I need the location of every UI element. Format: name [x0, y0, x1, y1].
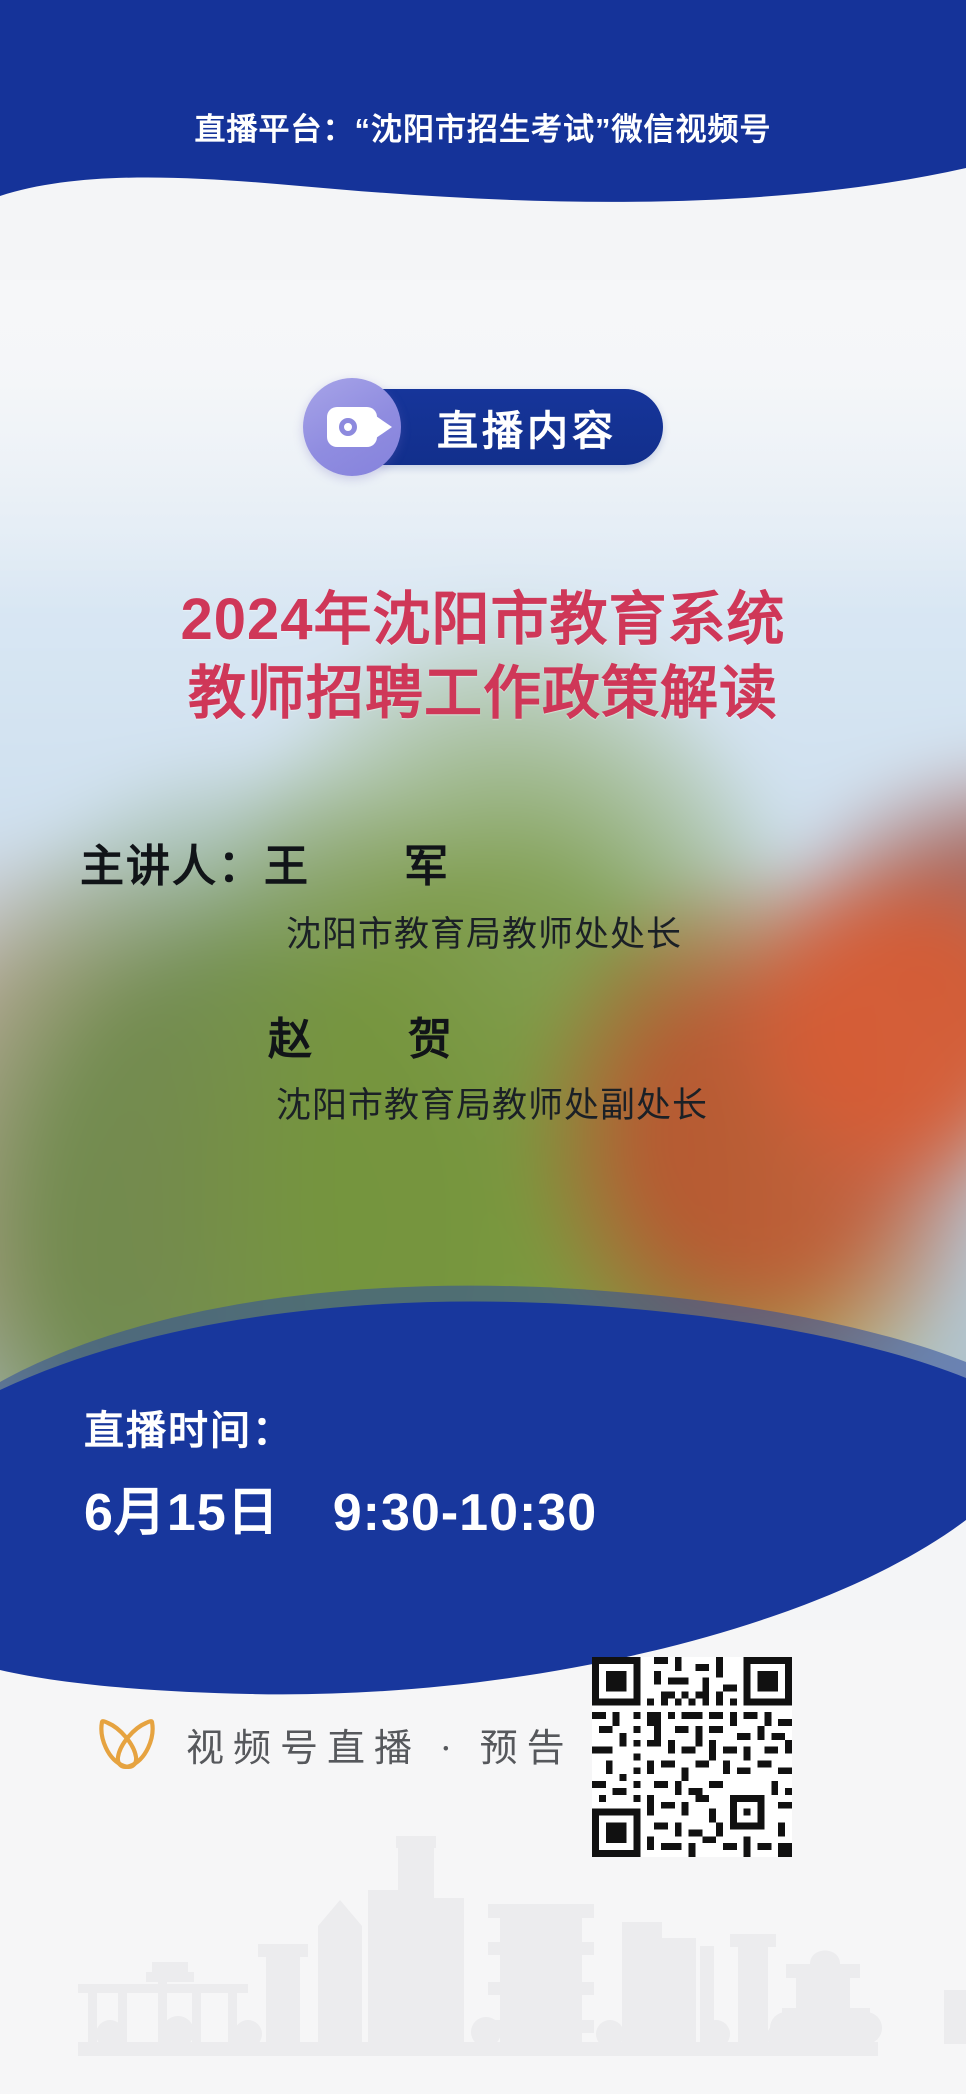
live-content-badge: 直播内容 [0, 378, 966, 476]
speaker-1-role: 沈阳市教育局教师处处长 [0, 906, 966, 957]
channels-brand-text: 视频号直播 · 预告 [186, 1717, 574, 1772]
live-stream-poster: 直播平台：“沈阳市招生考试”微信视频号 直播内容 2024年沈阳市教育系统 教师… [0, 0, 966, 2094]
speaker-list: 主讲人：王 军 沈阳市教育局教师处处长 赵 贺 沈阳市教育局教师处副处长 [0, 830, 966, 1128]
wechat-channels-icon [96, 1716, 158, 1772]
live-time-block: 直播时间： 6月15日 9:30-10:30 [84, 1398, 597, 1545]
badge-pill: 直播内容 [379, 389, 663, 465]
qr-code-icon[interactable] [592, 1657, 792, 1857]
speaker-lead-label: 主讲人： [80, 842, 264, 891]
speaker-2-role: 沈阳市教育局教师处副处长 [0, 1077, 966, 1128]
speaker-1-name: 王 军 [264, 842, 474, 891]
channels-brand: 视频号直播 · 预告 [96, 1716, 574, 1772]
platform-line: 直播平台：“沈阳市招生考试”微信视频号 [0, 104, 966, 149]
page-title: 2024年沈阳市教育系统 教师招聘工作政策解读 [0, 583, 966, 731]
badge-label: 直播内容 [437, 397, 617, 457]
title-line-1: 2024年沈阳市教育系统 [0, 583, 966, 657]
video-camera-icon [303, 378, 401, 476]
speaker-1-row: 主讲人：王 军 [0, 830, 966, 894]
live-time-label: 直播时间： [84, 1398, 597, 1456]
title-line-2: 教师招聘工作政策解读 [0, 657, 966, 731]
live-time-value: 6月15日 9:30-10:30 [84, 1470, 597, 1545]
city-skyline-silhouette [0, 1794, 966, 2094]
speaker-2-name: 赵 贺 [0, 1003, 966, 1067]
